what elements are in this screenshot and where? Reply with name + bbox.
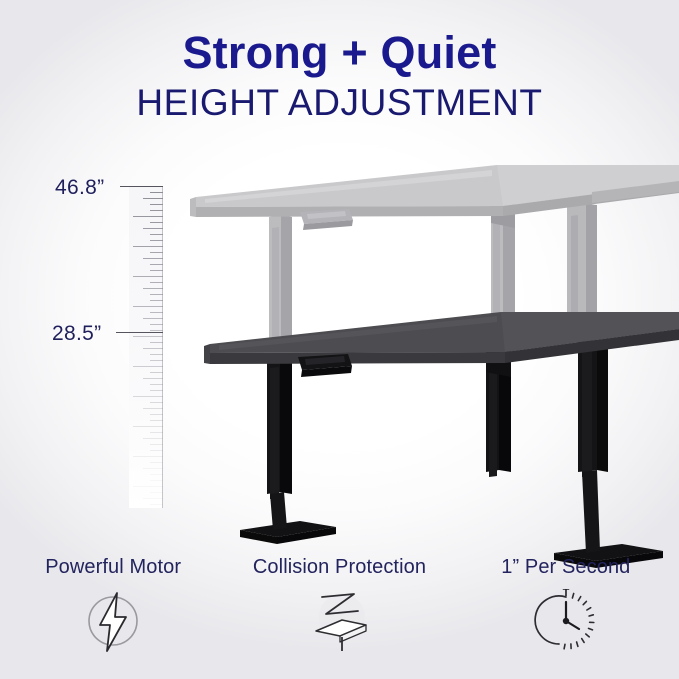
- feature-label-powerful-motor: Powerful Motor: [45, 556, 181, 579]
- ruler-mark-max: [120, 186, 163, 187]
- ruler-mark-min: [116, 332, 163, 333]
- lower-desk-lowered: [204, 312, 679, 568]
- lower-desk-leg-corner: [486, 348, 511, 477]
- feature-powerful-motor: Powerful Motor: [0, 556, 226, 679]
- feature-collision-protection: Collision Protection: [226, 556, 452, 679]
- lower-desk-control-panel[interactable]: [298, 354, 352, 377]
- upper-desk-leg-right: [567, 204, 597, 323]
- feature-speed: 1” Per Second: [453, 556, 679, 679]
- feature-row: Powerful Motor Collision Protection 1”: [0, 556, 679, 679]
- upper-desk-control-panel[interactable]: [300, 209, 353, 230]
- lower-desk-leg-right: [554, 340, 663, 568]
- min-height-label: 28.5”: [52, 322, 101, 346]
- max-height-label: 46.8”: [55, 176, 104, 200]
- desk-bounce-icon: [302, 589, 376, 655]
- svg-text:T: T: [562, 589, 569, 599]
- lightning-bolt-icon: [76, 589, 150, 655]
- height-ruler: [129, 186, 163, 508]
- clock-icon: T: [529, 589, 603, 655]
- lower-desk-leg-left: [240, 356, 336, 544]
- feature-label-collision-protection: Collision Protection: [253, 556, 426, 579]
- infographic-canvas: Strong + Quiet HEIGHT ADJUSTMENT: [0, 0, 679, 679]
- upper-desk-leg-left: [269, 215, 292, 349]
- feature-label-speed: 1” Per Second: [501, 556, 630, 579]
